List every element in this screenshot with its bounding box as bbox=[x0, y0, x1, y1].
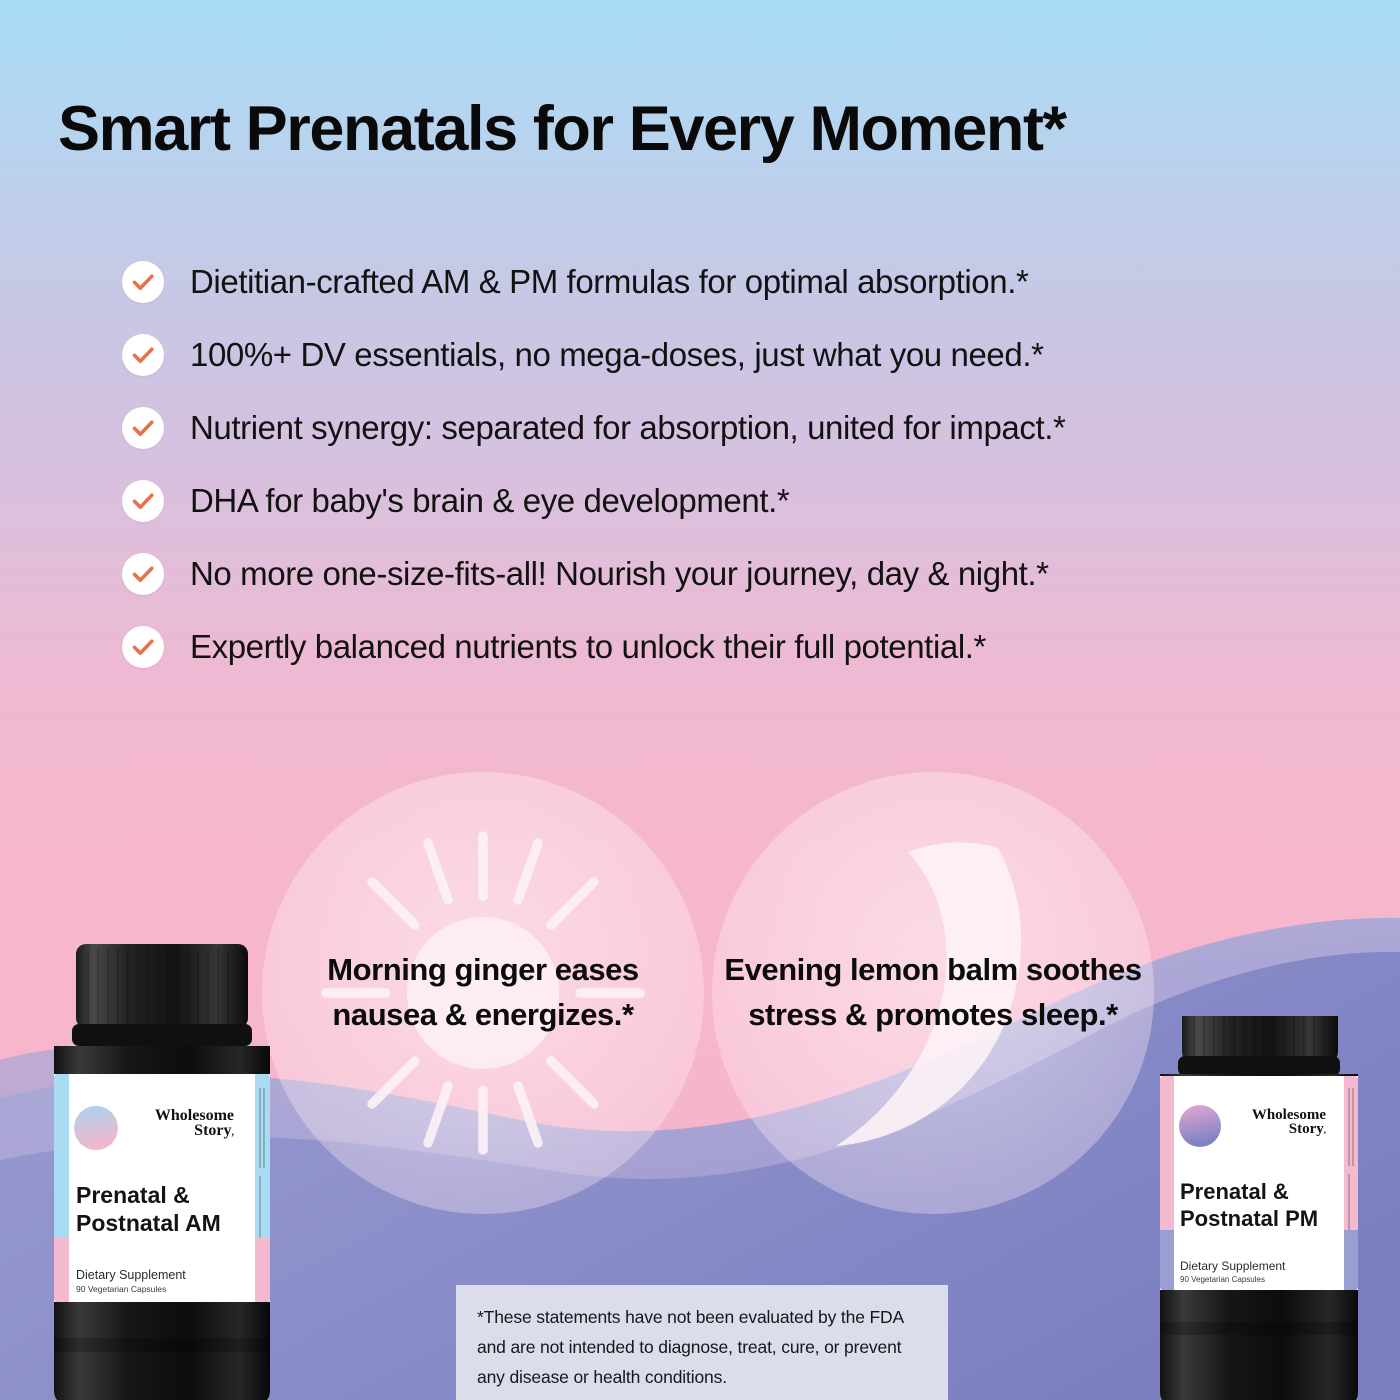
am-caption-line1: Morning ginger eases bbox=[258, 948, 708, 993]
pm-caption: Evening lemon balm soothes stress & prom… bbox=[708, 948, 1158, 1038]
check-icon bbox=[122, 626, 164, 668]
product-name-line1: Prenatal & bbox=[76, 1182, 190, 1208]
product-name-line2: Postnatal AM bbox=[76, 1210, 221, 1236]
check-icon bbox=[122, 407, 164, 449]
product-bottle-pm: Wholesome Story, Prenatal & Postnatal PM… bbox=[1146, 1016, 1372, 1400]
check-icon bbox=[122, 480, 164, 522]
list-item: Expertly balanced nutrients to unlock th… bbox=[122, 625, 1322, 669]
pm-caption-line1: Evening lemon balm soothes bbox=[708, 948, 1158, 993]
pm-caption-line2: stress & promotes sleep.* bbox=[708, 993, 1158, 1038]
benefits-list: Dietitian-crafted AM & PM formulas for o… bbox=[122, 260, 1322, 698]
capsule-count-label: 90 Vegetarian Capsules bbox=[76, 1284, 166, 1294]
check-icon bbox=[122, 334, 164, 376]
brand-name-line2: Story, bbox=[194, 1122, 234, 1139]
check-icon bbox=[122, 261, 164, 303]
product-name-line2: Postnatal PM bbox=[1180, 1206, 1318, 1231]
list-item-label: No more one-size-fits-all! Nourish your … bbox=[190, 552, 1049, 596]
list-item-label: Expertly balanced nutrients to unlock th… bbox=[190, 625, 986, 669]
fda-disclaimer: *These statements have not been evaluate… bbox=[456, 1285, 948, 1400]
list-item: No more one-size-fits-all! Nourish your … bbox=[122, 552, 1322, 596]
infographic-canvas: Smart Prenatals for Every Moment* Dietit… bbox=[0, 0, 1400, 1400]
am-caption: Morning ginger eases nausea & energizes.… bbox=[258, 948, 708, 1038]
product-name-line1: Prenatal & bbox=[1180, 1179, 1289, 1204]
list-item-label: 100%+ DV essentials, no mega-doses, just… bbox=[190, 333, 1044, 377]
am-caption-line2: nausea & energizes.* bbox=[258, 993, 708, 1038]
check-icon bbox=[122, 553, 164, 595]
product-bottle-am: Wholesome Story, Prenatal & Postnatal AM… bbox=[38, 938, 286, 1400]
supplement-label: Dietary Supplement bbox=[76, 1268, 186, 1282]
list-item: 100%+ DV essentials, no mega-doses, just… bbox=[122, 333, 1322, 377]
supplement-label: Dietary Supplement bbox=[1180, 1259, 1286, 1273]
list-item: DHA for baby's brain & eye development.* bbox=[122, 479, 1322, 523]
page-title: Smart Prenatals for Every Moment* bbox=[58, 96, 1358, 163]
list-item-label: Dietitian-crafted AM & PM formulas for o… bbox=[190, 260, 1028, 304]
list-item-label: DHA for baby's brain & eye development.* bbox=[190, 479, 789, 523]
list-item: Dietitian-crafted AM & PM formulas for o… bbox=[122, 260, 1322, 304]
capsule-count-label: 90 Vegetarian Capsules bbox=[1180, 1275, 1265, 1284]
list-item: Nutrient synergy: separated for absorpti… bbox=[122, 406, 1322, 450]
list-item-label: Nutrient synergy: separated for absorpti… bbox=[190, 406, 1065, 450]
brand-name-line2: Story, bbox=[1289, 1121, 1326, 1137]
